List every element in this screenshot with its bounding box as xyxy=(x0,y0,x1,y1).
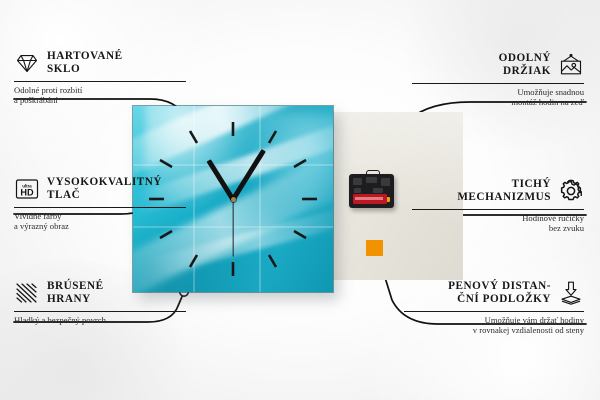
mechanism-notch-3 xyxy=(381,178,390,186)
feature-subtitle: Hladký a bezpečný povrch xyxy=(14,315,186,326)
mechanism-body xyxy=(349,174,394,208)
picture-hanger-icon xyxy=(558,52,584,78)
feature-durable-holder: ODOLNÝ DRŽIAK Umožňuje snadnou montáž ho… xyxy=(412,52,584,108)
feature-title: PENOVÝ DISTAN- ČNÍ PODLOŽKY xyxy=(448,280,551,307)
diamond-icon xyxy=(14,50,40,76)
feature-divider xyxy=(412,209,584,210)
feature-high-quality-print: ultra HD VYSOKOKVALITNÝ TLAČ Vividné far… xyxy=(14,176,186,232)
feature-head: HARTOVANÉ SKLO xyxy=(14,50,186,77)
foam-spacer-pad xyxy=(366,240,386,259)
clock-mechanism xyxy=(349,170,394,208)
hour-hand xyxy=(207,159,236,201)
feature-subtitle: Umožňuje snadnou montáž hodin na zeď xyxy=(412,87,584,108)
feature-subtitle: Umožňuje vám držať hodiny v rovnakej vzd… xyxy=(404,315,584,336)
minute-hand xyxy=(231,148,266,200)
feature-head: PENOVÝ DISTAN- ČNÍ PODLOŽKY xyxy=(404,280,584,307)
mechanism-battery xyxy=(353,194,387,204)
feature-subtitle: Hodinové ručičky bez zvuku xyxy=(412,213,584,234)
clock-center-pin xyxy=(231,197,236,202)
feature-subtitle: Vividné farby a výrazný obraz xyxy=(14,211,186,232)
feature-ground-edges: BRÚSENÉ HRANY Hladký a bezpečný povrch xyxy=(14,280,186,325)
ultra-hd-icon: ultra HD xyxy=(14,176,40,202)
feature-divider xyxy=(14,81,186,82)
mechanism-notch-1 xyxy=(353,178,362,185)
gear-icon xyxy=(558,178,584,204)
hatched-edge-icon xyxy=(14,280,40,306)
feature-head: BRÚSENÉ HRANY xyxy=(14,280,186,307)
feature-title: TICHÝ MECHANIZMUS xyxy=(457,178,551,205)
feature-subtitle: Odolné proti rozbití a poškrábání xyxy=(14,85,186,106)
foam-pad-top xyxy=(366,240,383,256)
infographic-stage: HARTOVANÉ SKLO Odolné proti rozbití a po… xyxy=(0,0,600,400)
feature-divider xyxy=(404,311,584,312)
feature-title: ODOLNÝ DRŽIAK xyxy=(499,52,551,79)
feature-divider xyxy=(14,311,186,312)
feature-divider xyxy=(412,83,584,84)
feature-title: HARTOVANÉ SKLO xyxy=(47,50,123,77)
mechanism-notch-4 xyxy=(354,188,361,193)
mechanism-notch-5 xyxy=(373,188,383,193)
svg-text:HD: HD xyxy=(20,188,34,198)
feature-silent-mechanism: TICHÝ MECHANIZMUS Hodinové ručičky bez z… xyxy=(412,178,584,234)
battery-label-stripe xyxy=(355,197,383,200)
feature-head: TICHÝ MECHANIZMUS xyxy=(412,178,584,205)
feature-divider xyxy=(14,207,186,208)
feature-head: ODOLNÝ DRŽIAK xyxy=(412,52,584,79)
press-down-layers-icon xyxy=(558,280,584,306)
feature-title: BRÚSENÉ HRANY xyxy=(47,280,104,307)
feature-hardened-glass: HARTOVANÉ SKLO Odolné proti rozbití a po… xyxy=(14,50,186,106)
feature-foam-spacers: PENOVÝ DISTAN- ČNÍ PODLOŽKY Umožňuje vám… xyxy=(404,280,584,336)
mechanism-notch-2 xyxy=(366,177,377,183)
feature-title: VYSOKOKVALITNÝ TLAČ xyxy=(47,176,162,203)
second-hand xyxy=(232,199,233,257)
feature-head: ultra HD VYSOKOKVALITNÝ TLAČ xyxy=(14,176,186,203)
